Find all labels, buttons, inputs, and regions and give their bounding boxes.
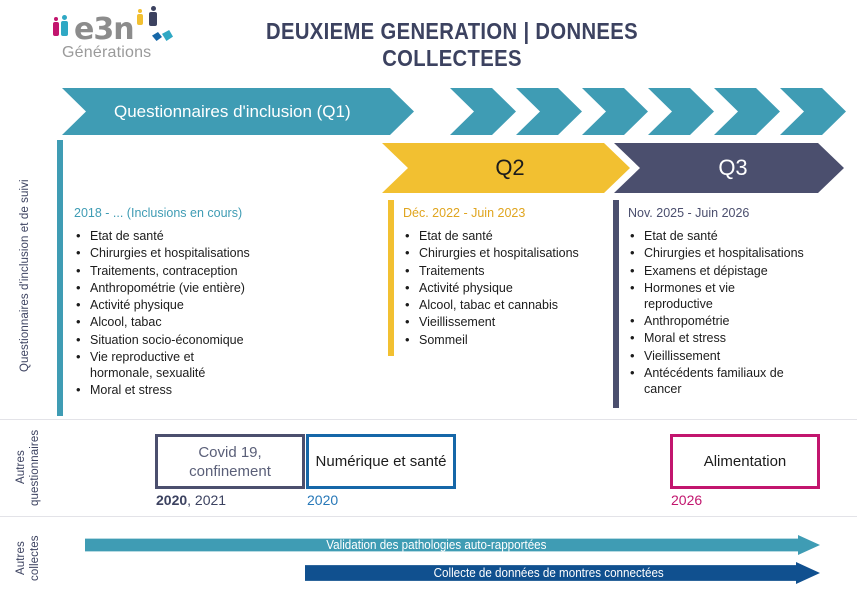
chevron-repeat-4 xyxy=(648,88,714,135)
list-item: Moral et stress xyxy=(628,331,828,347)
list-item: Vieillissement xyxy=(628,349,828,365)
axis-label-line1: Autres xyxy=(15,451,27,485)
box-line2: confinement xyxy=(189,463,271,480)
list-item: Anthropométrie xyxy=(628,314,828,330)
logo-figure-body-magenta xyxy=(53,22,59,36)
logo-wordmark: e3n xyxy=(74,12,134,47)
axis-label-autres-collectes: Autres collectes xyxy=(14,525,42,591)
logo-figure-head-navy xyxy=(151,6,156,11)
chevron-repeat-2 xyxy=(516,88,582,135)
list-item: Situation socio-économique xyxy=(74,333,354,349)
column-q3-list: Etat de santé Chirurgies et hospitalisat… xyxy=(628,229,828,397)
list-item: Anthropométrie (vie entière) xyxy=(74,281,354,297)
questionnaire-box-alimentation-label: Alimentation xyxy=(704,452,787,471)
list-item: Etat de santé xyxy=(403,229,618,245)
logo-figure-teal-right xyxy=(162,30,173,41)
chevron-q3-label: Q3 xyxy=(614,155,844,181)
list-item: Etat de santé xyxy=(74,229,354,245)
axis-label-line2: collectes xyxy=(29,535,41,581)
row-separator-2 xyxy=(0,516,857,517)
questionnaire-box-alimentation[interactable]: Alimentation xyxy=(670,434,820,489)
questionnaire-box-covid[interactable]: Covid 19, confinement xyxy=(155,434,305,489)
logo-figure-body-navy xyxy=(149,12,157,26)
axis-label-autres-questionnaires: Autres questionnaires xyxy=(14,425,42,510)
e3n-logo: e3n Générations xyxy=(52,6,180,68)
column-q2-date: Déc. 2022 - Juin 2023 xyxy=(403,206,618,220)
column-q2-list: Etat de santé Chirurgies et hospitalisat… xyxy=(403,229,618,349)
slide-canvas: e3n Générations DEUXIEME GENERATION | DO… xyxy=(0,0,857,594)
questionnaire-box-numerique[interactable]: Numérique et santé xyxy=(306,434,456,489)
list-item: Chirurgies et hospitalisations xyxy=(403,246,618,262)
list-item: Vie reproductive et hormonale, sexualité xyxy=(74,350,222,382)
logo-figure-body-yellow xyxy=(137,14,143,25)
collection-arrow-validation-label: Validation des pathologies auto-rapporté… xyxy=(326,538,546,552)
logo-subtitle: Générations xyxy=(62,44,151,62)
list-item: Moral et stress xyxy=(74,383,354,399)
list-item: Activité physique xyxy=(403,281,618,297)
chevron-q3: Q3 xyxy=(614,143,844,193)
chevron-repeat-3 xyxy=(582,88,648,135)
chevron-q1: Questionnaires d'inclusion (Q1) xyxy=(62,88,414,135)
logo-figure-blue-right xyxy=(152,32,162,41)
chevron-repeat-5 xyxy=(714,88,780,135)
list-item: Hormones et vie reproductive xyxy=(628,281,740,313)
questionnaire-box-numerique-label: Numérique et santé xyxy=(316,452,447,471)
collection-arrow-montres-label: Collecte de données de montres connectée… xyxy=(433,566,663,580)
questionnaire-box-covid-label: Covid 19, confinement xyxy=(189,443,271,481)
list-item: Examens et dépistage xyxy=(628,264,828,280)
list-item: Traitements xyxy=(403,264,618,280)
collection-arrow-validation: Validation des pathologies auto-rapporté… xyxy=(85,535,820,555)
list-item: Chirurgies et hospitalisations xyxy=(628,246,828,262)
column-q3: Nov. 2025 - Juin 2026 Etat de santé Chir… xyxy=(628,206,828,399)
questionnaire-year-numerique: 2020 xyxy=(307,492,338,508)
questionnaire-year-covid: 2020, 2021 xyxy=(156,492,226,508)
list-item: Alcool, tabac et cannabis xyxy=(403,298,618,314)
chevron-q1-label: Questionnaires d'inclusion (Q1) xyxy=(62,102,351,122)
list-item: Sommeil xyxy=(403,333,618,349)
year-bold: 2020 xyxy=(156,492,187,508)
list-item: Etat de santé xyxy=(628,229,828,245)
logo-figure-body-cyan xyxy=(61,21,68,36)
column-q1-date: 2018 - ... (Inclusions en cours) xyxy=(74,206,354,220)
logo-figure-head-magenta xyxy=(54,17,58,21)
list-item: Chirurgies et hospitalisations xyxy=(74,246,354,262)
axis-label-questionnaires: Questionnaires d'inclusion et de suivi xyxy=(18,140,32,412)
column-bar-q1 xyxy=(57,140,63,416)
list-item: Antécédents familiaux de cancer xyxy=(628,366,788,398)
page-title: DEUXIEME GENERATION | DONNEES COLLECTEES xyxy=(258,18,645,72)
chevron-repeat-1 xyxy=(450,88,516,135)
list-item: Traitements, contraception xyxy=(74,264,354,280)
box-line1: Covid 19, xyxy=(198,444,261,461)
collection-arrow-montres: Collecte de données de montres connectée… xyxy=(305,562,820,584)
list-item: Vieillissement xyxy=(403,315,618,331)
row-separator-1 xyxy=(0,419,857,420)
column-q1: 2018 - ... (Inclusions en cours) Etat de… xyxy=(74,206,354,400)
list-item: Activité physique xyxy=(74,298,354,314)
column-q1-list: Etat de santé Chirurgies et hospitalisat… xyxy=(74,229,354,399)
chevron-repeat-6 xyxy=(780,88,846,135)
column-q3-date: Nov. 2025 - Juin 2026 xyxy=(628,206,828,220)
list-item: Alcool, tabac xyxy=(74,315,354,331)
chevron-q2: Q2 xyxy=(382,143,630,193)
axis-label-line1: Autres xyxy=(15,541,27,575)
chevron-q2-label: Q2 xyxy=(382,155,630,181)
year-rest: , 2021 xyxy=(187,492,226,508)
column-q2: Déc. 2022 - Juin 2023 Etat de santé Chir… xyxy=(403,206,618,350)
column-bar-q2 xyxy=(388,200,394,356)
logo-figure-head-yellow xyxy=(138,9,142,13)
questionnaire-year-alimentation: 2026 xyxy=(671,492,702,508)
axis-label-line2: questionnaires xyxy=(29,429,41,505)
logo-figure-head-cyan xyxy=(62,15,67,20)
